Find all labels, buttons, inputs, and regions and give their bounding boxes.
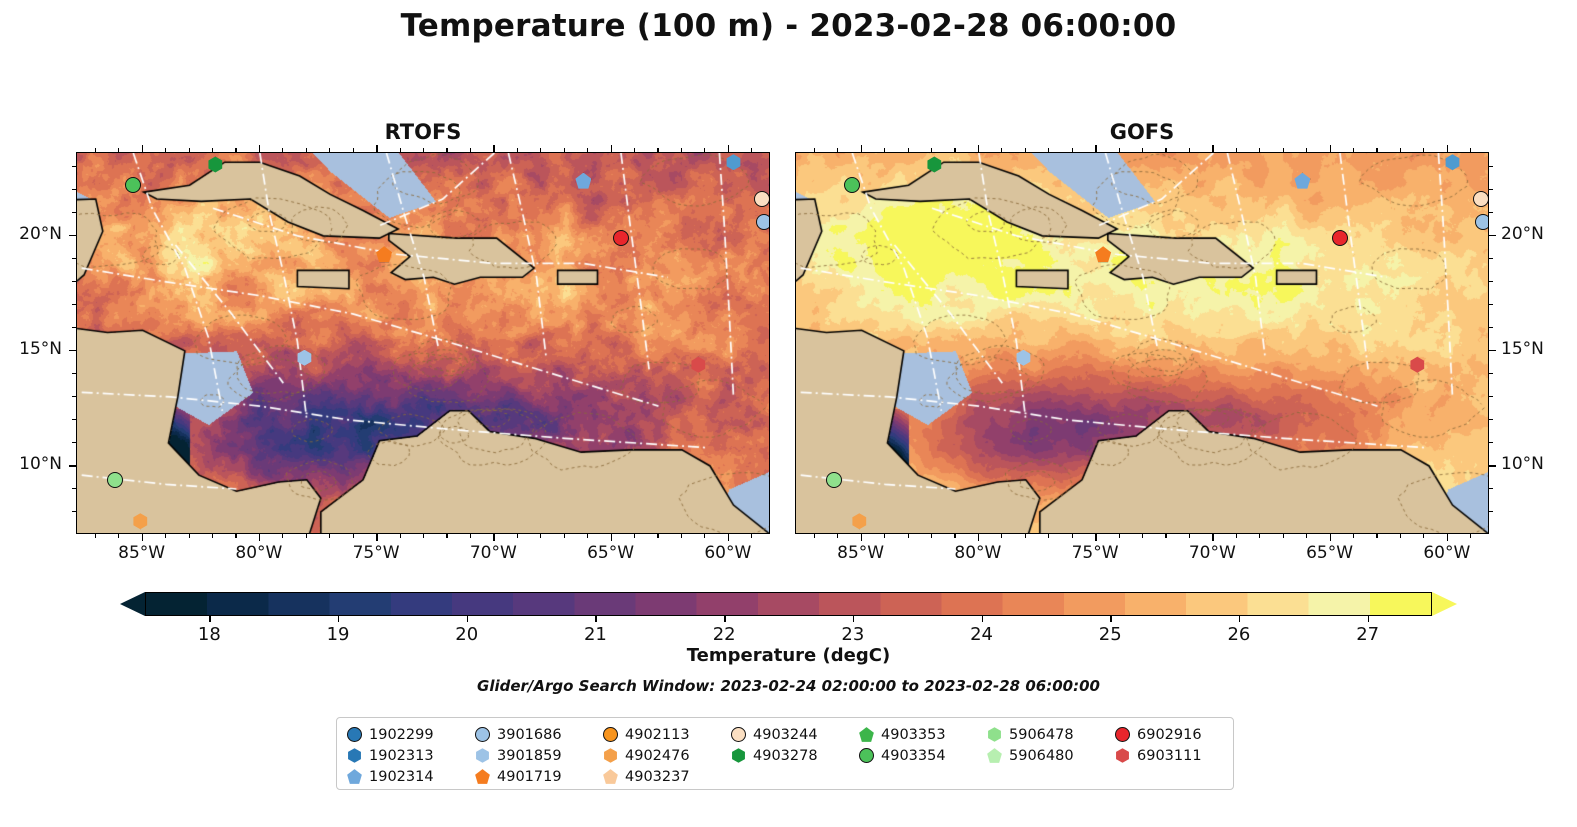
x-axis-top-minor-tick	[1189, 148, 1190, 152]
x-axis-top-minor-tick	[189, 148, 190, 152]
x-axis-top-minor-tick	[517, 148, 518, 152]
x-axis-tick	[1447, 534, 1449, 541]
colorbar-tick	[724, 616, 725, 622]
colorbar-tick-label: 27	[1356, 624, 1379, 645]
x-axis-minor-tick	[423, 534, 424, 538]
x-axis-top-minor-tick	[564, 148, 565, 152]
legend-label: 4901719	[497, 769, 562, 785]
legend-marker-circle-icon	[731, 727, 746, 742]
x-axis-top-minor-tick	[657, 148, 658, 152]
colorbar-tick-label: 20	[455, 624, 478, 645]
x-axis-top-minor-tick	[165, 148, 166, 152]
x-axis-top-minor-tick	[95, 148, 96, 152]
legend-marker-circle-icon	[347, 727, 362, 742]
y-axis-minor-tick	[72, 373, 76, 374]
colorbar-tick	[1110, 616, 1111, 622]
x-axis-top-minor-tick	[1119, 148, 1120, 152]
x-axis-tick	[1212, 534, 1214, 541]
x-axis-minor-tick	[1353, 534, 1354, 538]
legend-item[interactable]: 4903237	[603, 766, 731, 787]
legend-item[interactable]: 6902916	[1115, 724, 1243, 745]
x-axis-top-minor-tick	[212, 148, 213, 152]
colorbar-tick	[209, 616, 210, 622]
glider-argo-legend: 1902299390168649021134903244490335359064…	[336, 717, 1234, 790]
y-axis-tick	[69, 350, 76, 352]
y-axis-minor-tick	[1489, 511, 1493, 512]
temperature-field	[796, 153, 1489, 534]
y-axis-minor-tick	[1489, 281, 1493, 282]
x-axis-minor-tick	[1400, 534, 1401, 538]
x-axis-minor-tick	[564, 534, 565, 538]
colorbar-tick-label: 26	[1227, 624, 1250, 645]
legend-marker-hex-icon	[475, 748, 490, 763]
legend-label: 6903111	[1137, 748, 1202, 764]
map-marker[interactable]	[107, 472, 123, 488]
x-axis-top-minor-tick	[1165, 148, 1166, 152]
x-axis-top-tick	[861, 145, 863, 152]
x-axis-top-minor-tick	[235, 148, 236, 152]
x-axis-tick-label: 85°W	[118, 543, 165, 563]
x-axis-tick	[1330, 534, 1332, 541]
x-axis-minor-tick	[657, 534, 658, 538]
legend-label: 4903237	[625, 769, 690, 785]
colorbar-tick-label: 24	[970, 624, 993, 645]
search-window-text: Glider/Argo Search Window: 2023-02-24 02…	[0, 677, 1577, 695]
x-axis-minor-tick	[353, 534, 354, 538]
y-axis-minor-tick	[1489, 488, 1493, 489]
map-marker[interactable]	[1473, 191, 1489, 207]
y-axis-tick	[1489, 465, 1496, 467]
y-axis-minor-tick	[72, 419, 76, 420]
x-axis-tick-label: 85°W	[837, 543, 884, 563]
legend-label: 1902314	[369, 769, 434, 785]
map-marker[interactable]	[754, 191, 770, 207]
colorbar-extend-max	[1432, 592, 1457, 616]
x-axis-tick-label: 80°W	[235, 543, 282, 563]
x-axis-top-minor-tick	[931, 148, 932, 152]
x-axis-minor-tick	[837, 534, 838, 538]
y-axis-minor-tick	[1489, 419, 1493, 420]
x-axis-top-minor-tick	[118, 148, 119, 152]
x-axis-top-tick	[1447, 145, 1449, 152]
colorbar-tick	[982, 616, 983, 622]
x-axis-minor-tick	[954, 534, 955, 538]
x-axis-minor-tick	[165, 534, 166, 538]
colorbar-extend-min	[120, 592, 145, 616]
panel-title-rtofs: RTOFS	[76, 120, 770, 144]
x-axis-minor-tick	[1423, 534, 1424, 538]
map-panel-rtofs[interactable]	[76, 152, 770, 534]
x-axis-tick-label: 65°W	[1306, 543, 1353, 563]
y-axis-minor-tick	[72, 166, 76, 167]
legend-item[interactable]: 6903111	[1115, 745, 1243, 766]
x-axis-minor-tick	[587, 534, 588, 538]
x-axis-tick	[259, 534, 261, 541]
x-axis-top-minor-tick	[1001, 148, 1002, 152]
y-axis-minor-tick	[1489, 442, 1493, 443]
x-axis-top-tick	[1095, 145, 1097, 152]
x-axis-tick	[1095, 534, 1097, 541]
x-axis-top-minor-tick	[704, 148, 705, 152]
map-panel-gofs[interactable]	[795, 152, 1489, 534]
x-axis-minor-tick	[446, 534, 447, 538]
x-axis-tick-label: 60°W	[704, 543, 751, 563]
x-axis-tick-label: 75°W	[353, 543, 400, 563]
y-axis-minor-tick	[72, 212, 76, 213]
y-axis-tick	[69, 235, 76, 237]
legend-label: 5906480	[1009, 748, 1074, 764]
y-axis-tick	[1489, 235, 1496, 237]
x-axis-top-minor-tick	[908, 148, 909, 152]
x-axis-minor-tick	[1072, 534, 1073, 538]
x-axis-tick-label: 65°W	[587, 543, 634, 563]
x-axis-top-minor-tick	[282, 148, 283, 152]
legend-item[interactable]: 4903244	[731, 724, 859, 745]
x-axis-top-tick	[611, 145, 613, 152]
legend-label: 5906478	[1009, 727, 1074, 743]
x-axis-top-minor-tick	[540, 148, 541, 152]
legend-marker-circle-icon	[1115, 727, 1130, 742]
x-axis-tick	[611, 534, 613, 541]
legend-label: 4903354	[881, 748, 946, 764]
x-axis-top-tick	[259, 145, 261, 152]
x-axis-tick	[493, 534, 495, 541]
legend-marker-hex-icon	[731, 748, 746, 763]
x-axis-minor-tick	[1048, 534, 1049, 538]
x-axis-minor-tick	[681, 534, 682, 538]
x-axis-top-tick	[142, 145, 144, 152]
x-axis-top-minor-tick	[400, 148, 401, 152]
legend-marker-circle-icon	[475, 727, 490, 742]
x-axis-minor-tick	[704, 534, 705, 538]
x-axis-top-minor-tick	[1306, 148, 1307, 152]
legend-marker-pent-icon	[347, 769, 362, 784]
x-axis-minor-tick	[1119, 534, 1120, 538]
legend-item[interactable]: 4903278	[731, 745, 859, 766]
x-axis-minor-tick	[329, 534, 330, 538]
x-axis-minor-tick	[400, 534, 401, 538]
colorbar-tick	[338, 616, 339, 622]
legend-label: 6902916	[1137, 727, 1202, 743]
x-axis-minor-tick	[1142, 534, 1143, 538]
x-axis-top-minor-tick	[954, 148, 955, 152]
x-axis-minor-tick	[1001, 534, 1002, 538]
legend-label: 1902299	[369, 727, 434, 743]
colorbar: 18192021222324252627	[120, 592, 1457, 616]
x-axis-minor-tick	[1165, 534, 1166, 538]
x-axis-top-minor-tick	[1142, 148, 1143, 152]
y-axis-minor-tick	[1489, 212, 1493, 213]
x-axis-top-tick	[493, 145, 495, 152]
legend-item[interactable]: 5906480	[987, 745, 1115, 766]
y-axis-minor-tick	[72, 396, 76, 397]
panel-title-gofs: GOFS	[795, 120, 1489, 144]
y-axis-tick-label: 20°N	[1501, 224, 1544, 244]
x-axis-minor-tick	[1025, 534, 1026, 538]
map-marker[interactable]	[613, 230, 629, 246]
x-axis-top-tick	[376, 145, 378, 152]
x-axis-minor-tick	[282, 534, 283, 538]
colorbar-tick-label: 25	[1099, 624, 1122, 645]
colorbar-tick-label: 18	[198, 624, 221, 645]
x-axis-top-minor-tick	[1353, 148, 1354, 152]
y-axis-minor-tick	[1489, 166, 1493, 167]
legend-item[interactable]: 4902113	[603, 724, 731, 745]
x-axis-minor-tick	[634, 534, 635, 538]
x-axis-minor-tick	[1189, 534, 1190, 538]
x-axis-minor-tick	[235, 534, 236, 538]
legend-item[interactable]: 4902476	[603, 745, 731, 766]
legend-item[interactable]: 3901859	[475, 745, 603, 766]
legend-marker-hex-icon	[603, 748, 618, 763]
y-axis-minor-tick	[1489, 258, 1493, 259]
x-axis-top-minor-tick	[884, 148, 885, 152]
x-axis-top-minor-tick	[1283, 148, 1284, 152]
legend-item[interactable]: 4903354	[859, 745, 987, 766]
y-axis-minor-tick	[72, 511, 76, 512]
x-axis-tick	[861, 534, 863, 541]
colorbar-tick-label: 19	[327, 624, 350, 645]
y-axis-tick-label: 15°N	[19, 339, 62, 359]
x-axis-top-minor-tick	[1259, 148, 1260, 152]
x-axis-top-minor-tick	[634, 148, 635, 152]
legend-grid: 1902299390168649021134903244490335359064…	[347, 724, 1225, 787]
legend-item[interactable]: 4903353	[859, 724, 987, 745]
y-axis-tick-label: 15°N	[1501, 339, 1544, 359]
legend-label: 3901859	[497, 748, 562, 764]
x-axis-top-minor-tick	[329, 148, 330, 152]
x-axis-top-minor-tick	[1025, 148, 1026, 152]
legend-label: 4903244	[753, 727, 818, 743]
colorbar-tick-label: 21	[584, 624, 607, 645]
legend-label: 3901686	[497, 727, 562, 743]
x-axis-minor-tick	[306, 534, 307, 538]
legend-marker-pent-icon	[475, 769, 490, 784]
x-axis-top-tick	[728, 145, 730, 152]
x-axis-minor-tick	[470, 534, 471, 538]
y-axis-tick	[1489, 350, 1496, 352]
x-axis-minor-tick	[189, 534, 190, 538]
x-axis-top-minor-tick	[306, 148, 307, 152]
x-axis-minor-tick	[1376, 534, 1377, 538]
y-axis-minor-tick	[72, 258, 76, 259]
colorbar-tick-label: 22	[713, 624, 736, 645]
x-axis-top-minor-tick	[470, 148, 471, 152]
map-marker[interactable]	[826, 472, 842, 488]
x-axis-top-minor-tick	[353, 148, 354, 152]
legend-marker-hex-icon	[987, 727, 1002, 742]
x-axis-top-minor-tick	[751, 148, 752, 152]
x-axis-top-minor-tick	[1072, 148, 1073, 152]
x-axis-tick-label: 75°W	[1072, 543, 1119, 563]
x-axis-minor-tick	[884, 534, 885, 538]
x-axis-minor-tick	[1470, 534, 1471, 538]
y-axis-tick-label: 10°N	[19, 454, 62, 474]
x-axis-minor-tick	[751, 534, 752, 538]
y-axis-minor-tick	[72, 442, 76, 443]
legend-marker-circle-icon	[603, 727, 618, 742]
map-marker[interactable]	[756, 214, 770, 230]
x-axis-minor-tick	[517, 534, 518, 538]
y-axis-minor-tick	[1489, 396, 1493, 397]
legend-label: 4903353	[881, 727, 946, 743]
x-axis-tick	[978, 534, 980, 541]
x-axis-tick	[142, 534, 144, 541]
x-axis-tick-label: 70°W	[1189, 543, 1236, 563]
x-axis-minor-tick	[212, 534, 213, 538]
legend-label: 4902113	[625, 727, 690, 743]
x-axis-top-minor-tick	[446, 148, 447, 152]
x-axis-top-minor-tick	[1470, 148, 1471, 152]
legend-label: 4902476	[625, 748, 690, 764]
temperature-field	[77, 153, 770, 534]
x-axis-top-minor-tick	[1376, 148, 1377, 152]
legend-item[interactable]: 5906478	[987, 724, 1115, 745]
x-axis-top-minor-tick	[814, 148, 815, 152]
x-axis-top-minor-tick	[1048, 148, 1049, 152]
legend-label: 1902313	[369, 748, 434, 764]
x-axis-minor-tick	[95, 534, 96, 538]
legend-marker-pent-icon	[987, 748, 1002, 763]
x-axis-top-minor-tick	[1400, 148, 1401, 152]
legend-item[interactable]: 1902313	[347, 745, 475, 766]
x-axis-tick-label: 80°W	[954, 543, 1001, 563]
x-axis-minor-tick	[931, 534, 932, 538]
legend-item[interactable]: 3901686	[475, 724, 603, 745]
x-axis-minor-tick	[1283, 534, 1284, 538]
map-marker[interactable]	[1332, 230, 1348, 246]
colorbar-label: Temperature (degC)	[0, 645, 1577, 666]
colorbar-tick-label: 23	[841, 624, 864, 645]
y-axis-minor-tick	[72, 189, 76, 190]
legend-item[interactable]: 4901719	[475, 766, 603, 787]
legend-marker-hex-icon	[1115, 748, 1130, 763]
colorbar-tick	[1239, 616, 1240, 622]
legend-item[interactable]: 1902299	[347, 724, 475, 745]
x-axis-top-minor-tick	[1236, 148, 1237, 152]
legend-marker-hex-icon	[347, 748, 362, 763]
legend-item[interactable]: 1902314	[347, 766, 475, 787]
y-axis-minor-tick	[72, 488, 76, 489]
x-axis-minor-tick	[1236, 534, 1237, 538]
y-axis-minor-tick	[72, 304, 76, 305]
colorbar-gradient	[145, 592, 1432, 616]
x-axis-minor-tick	[1259, 534, 1260, 538]
x-axis-top-minor-tick	[681, 148, 682, 152]
x-axis-top-minor-tick	[587, 148, 588, 152]
x-axis-top-tick	[1212, 145, 1214, 152]
x-axis-top-tick	[1330, 145, 1332, 152]
y-axis-minor-tick	[1489, 189, 1493, 190]
x-axis-top-minor-tick	[837, 148, 838, 152]
y-axis-tick-label: 10°N	[1501, 454, 1544, 474]
page-title: Temperature (100 m) - 2023-02-28 06:00:0…	[0, 8, 1577, 44]
x-axis-minor-tick	[118, 534, 119, 538]
map-marker[interactable]	[1475, 214, 1489, 230]
colorbar-tick	[1368, 616, 1369, 622]
x-axis-top-tick	[978, 145, 980, 152]
x-axis-tick	[728, 534, 730, 541]
x-axis-top-minor-tick	[1423, 148, 1424, 152]
legend-label: 4903278	[753, 748, 818, 764]
legend-marker-pent-icon	[859, 727, 874, 742]
y-axis-tick-label: 20°N	[19, 224, 62, 244]
x-axis-minor-tick	[1306, 534, 1307, 538]
colorbar-tick	[853, 616, 854, 622]
y-axis-minor-tick	[1489, 304, 1493, 305]
y-axis-minor-tick	[1489, 373, 1493, 374]
x-axis-minor-tick	[908, 534, 909, 538]
colorbar-tick	[595, 616, 596, 622]
x-axis-tick-label: 60°W	[1423, 543, 1470, 563]
colorbar-tick	[467, 616, 468, 622]
x-axis-tick-label: 70°W	[470, 543, 517, 563]
legend-marker-circle-icon	[859, 748, 874, 763]
y-axis-minor-tick	[1489, 327, 1493, 328]
y-axis-minor-tick	[72, 327, 76, 328]
x-axis-minor-tick	[540, 534, 541, 538]
y-axis-tick	[69, 465, 76, 467]
x-axis-minor-tick	[814, 534, 815, 538]
legend-marker-pent-icon	[603, 769, 618, 784]
x-axis-top-minor-tick	[423, 148, 424, 152]
y-axis-minor-tick	[72, 281, 76, 282]
x-axis-tick	[376, 534, 378, 541]
